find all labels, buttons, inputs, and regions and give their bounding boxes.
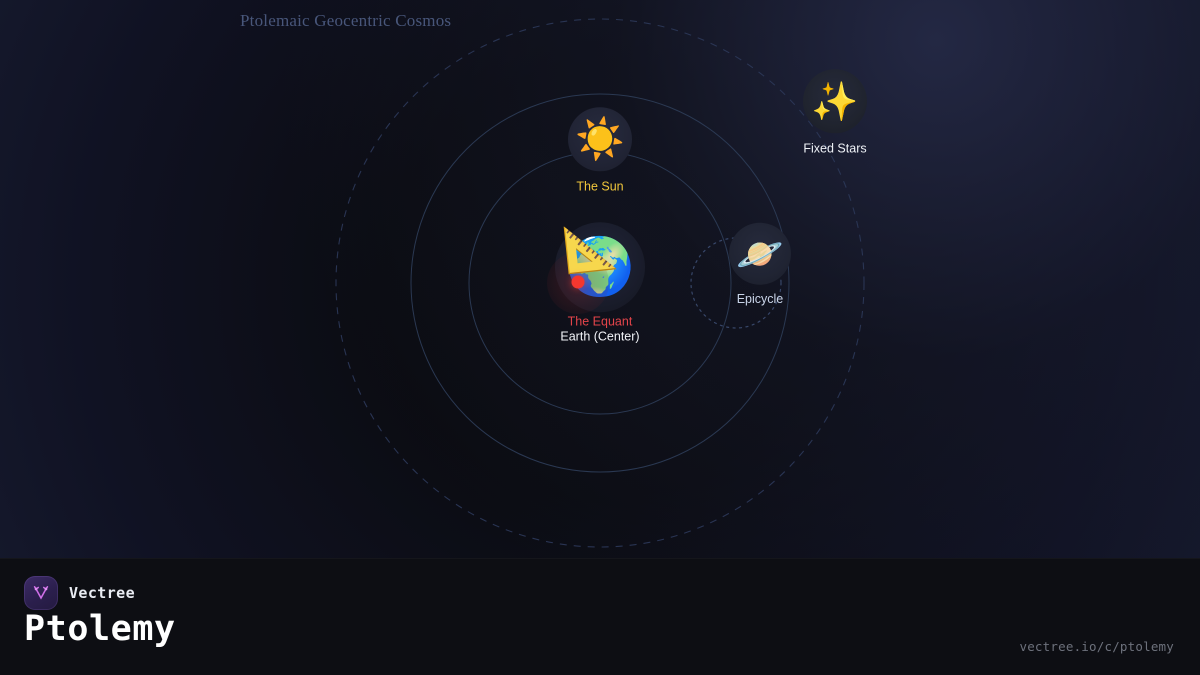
node-sun-disc: ☀️ [568, 107, 632, 171]
diagram-title: Ptolemaic Geocentric Cosmos [240, 11, 451, 31]
node-earth[interactable]: 🌍 The Equant Earth (Center) [555, 222, 645, 344]
node-sun-label: The Sun [576, 180, 623, 193]
node-earth-label: Earth (Center) [560, 329, 639, 344]
footer-bar: Vectree Ptolemy vectree.io/c/ptolemy [0, 558, 1200, 675]
sparkles-icon: ✨ [811, 82, 858, 120]
footer-url: vectree.io/c/ptolemy [1019, 639, 1174, 654]
node-epicycle[interactable]: 🪐 Epicycle [729, 223, 791, 306]
brand-name: Vectree [69, 584, 135, 602]
equant-label: The Equant [568, 314, 633, 329]
node-epicycle-label: Epicycle [737, 293, 784, 306]
node-fixed-stars-disc: ✨ [803, 69, 867, 133]
equant-dot[interactable] [572, 276, 585, 289]
vectree-mark [30, 582, 52, 604]
slide-canvas: Ptolemaic Geocentric Cosmos 🌍 The Equant… [0, 0, 1200, 675]
earth-label-group: The Equant Earth (Center) [560, 314, 639, 344]
node-earth-disc: 🌍 [555, 222, 645, 312]
sun-icon: ☀️ [575, 119, 625, 159]
ringed-planet-icon: 🪐 [736, 235, 783, 273]
node-fixed-stars-label: Fixed Stars [803, 142, 866, 155]
node-epicycle-disc: 🪐 [729, 223, 791, 285]
node-fixed-stars[interactable]: ✨ Fixed Stars [803, 69, 867, 155]
deck-title: Ptolemy [24, 609, 176, 649]
brand-row[interactable]: Vectree [24, 576, 135, 610]
node-sun[interactable]: ☀️ The Sun [568, 107, 632, 193]
vectree-logo-icon [24, 576, 58, 610]
